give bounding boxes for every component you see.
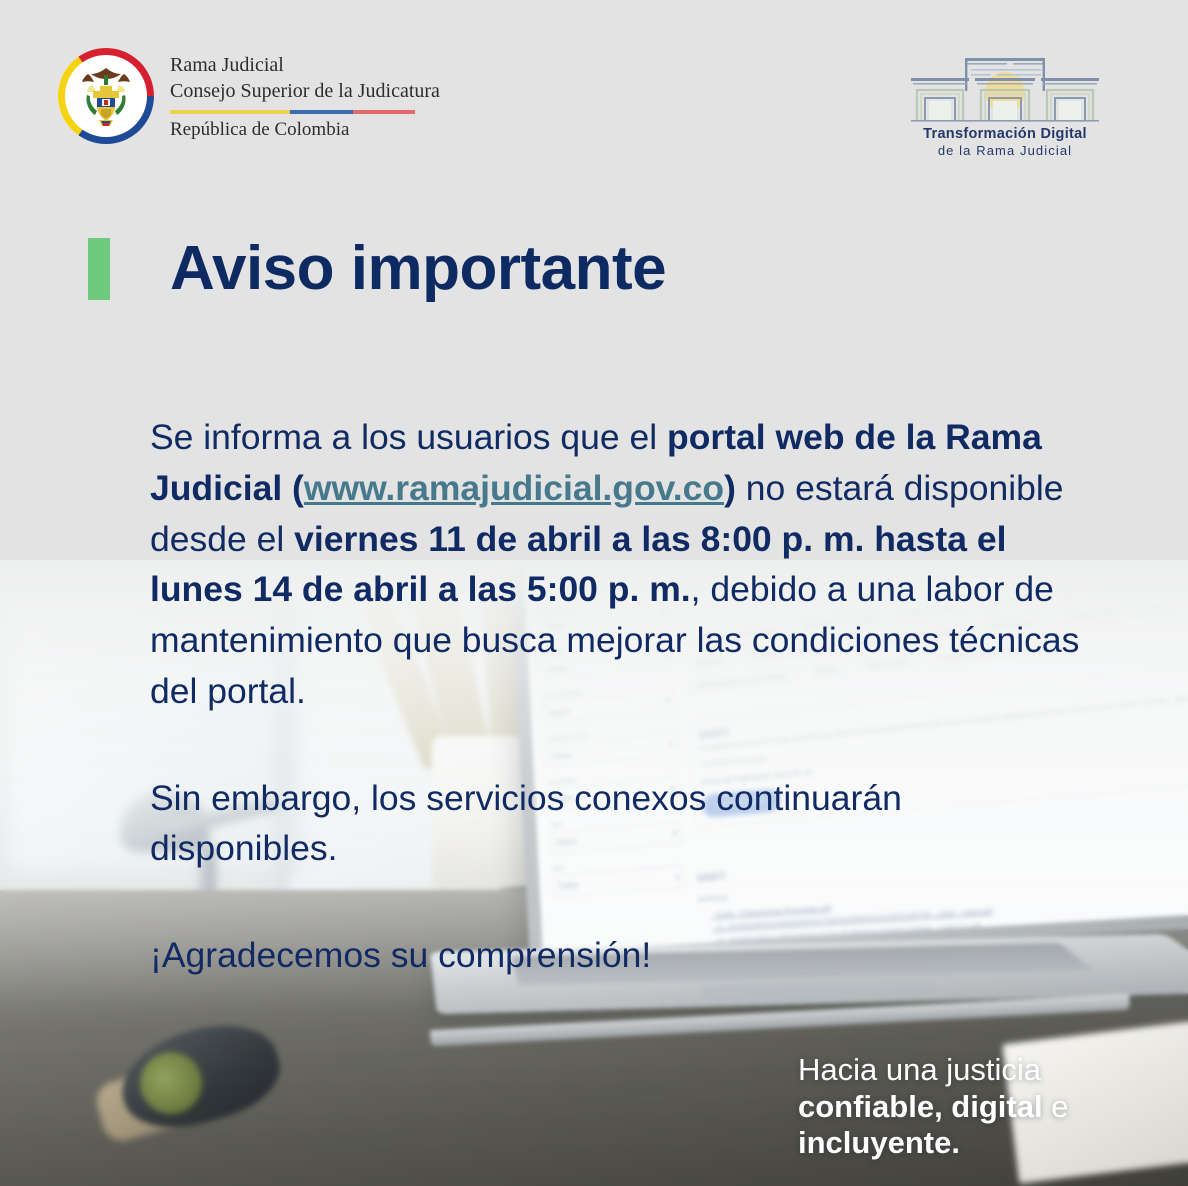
p1-seg1: Se informa a los usuarios que el bbox=[150, 417, 667, 457]
transformacion-digital-logo: Transformación Digital de la Rama Judici… bbox=[900, 48, 1110, 158]
p1-seg3: ) bbox=[724, 468, 736, 508]
notice-poster: Publicaciones Procesales BUSCAR Despacho… bbox=[0, 0, 1188, 1186]
page-title-row: Aviso importante bbox=[88, 238, 666, 300]
rama-judicial-logo: Rama Judicial Consejo Superior de la Jud… bbox=[58, 48, 440, 144]
ramajudicial-link[interactable]: www.ramajudicial.gov.co bbox=[304, 468, 724, 508]
td-logo-line-1: Transformación Digital bbox=[900, 126, 1110, 142]
poster-header: Rama Judicial Consejo Superior de la Jud… bbox=[0, 0, 1188, 185]
courthouse-building-icon bbox=[905, 48, 1105, 124]
colombia-tricolor-rule bbox=[170, 110, 415, 114]
logo-line-1: Rama Judicial bbox=[170, 53, 440, 79]
title-accent-bar bbox=[88, 238, 110, 300]
colombia-coat-of-arms-icon bbox=[58, 48, 154, 144]
slogan-line-3-bold: incluyente. bbox=[798, 1125, 960, 1160]
notice-paragraph-2: Sin embargo, los servicios conexos conti… bbox=[150, 773, 1098, 875]
coat-of-arms-shield-icon bbox=[77, 65, 135, 127]
slogan-line-2-light: e bbox=[1043, 1089, 1069, 1124]
notice-paragraph-1: Se informa a los usuarios que el portal … bbox=[150, 412, 1098, 717]
slogan-line-2-bold: confiable, digital bbox=[798, 1089, 1043, 1124]
rama-judicial-logo-text: Rama Judicial Consejo Superior de la Jud… bbox=[170, 51, 440, 141]
notice-paragraph-3: ¡Agradecemos su comprensión! bbox=[150, 930, 1098, 981]
logo-line-2: Consejo Superior de la Judicatura bbox=[170, 79, 440, 105]
td-logo-line-2: de la Rama Judicial bbox=[900, 143, 1110, 158]
slogan: Hacia una justicia confiable, digital e … bbox=[798, 1052, 1128, 1162]
slogan-line-1: Hacia una justicia bbox=[798, 1052, 1041, 1087]
notice-body: Se informa a los usuarios que el portal … bbox=[150, 412, 1098, 981]
logo-line-3: República de Colombia bbox=[170, 119, 440, 141]
page-title: Aviso importante bbox=[170, 238, 666, 300]
